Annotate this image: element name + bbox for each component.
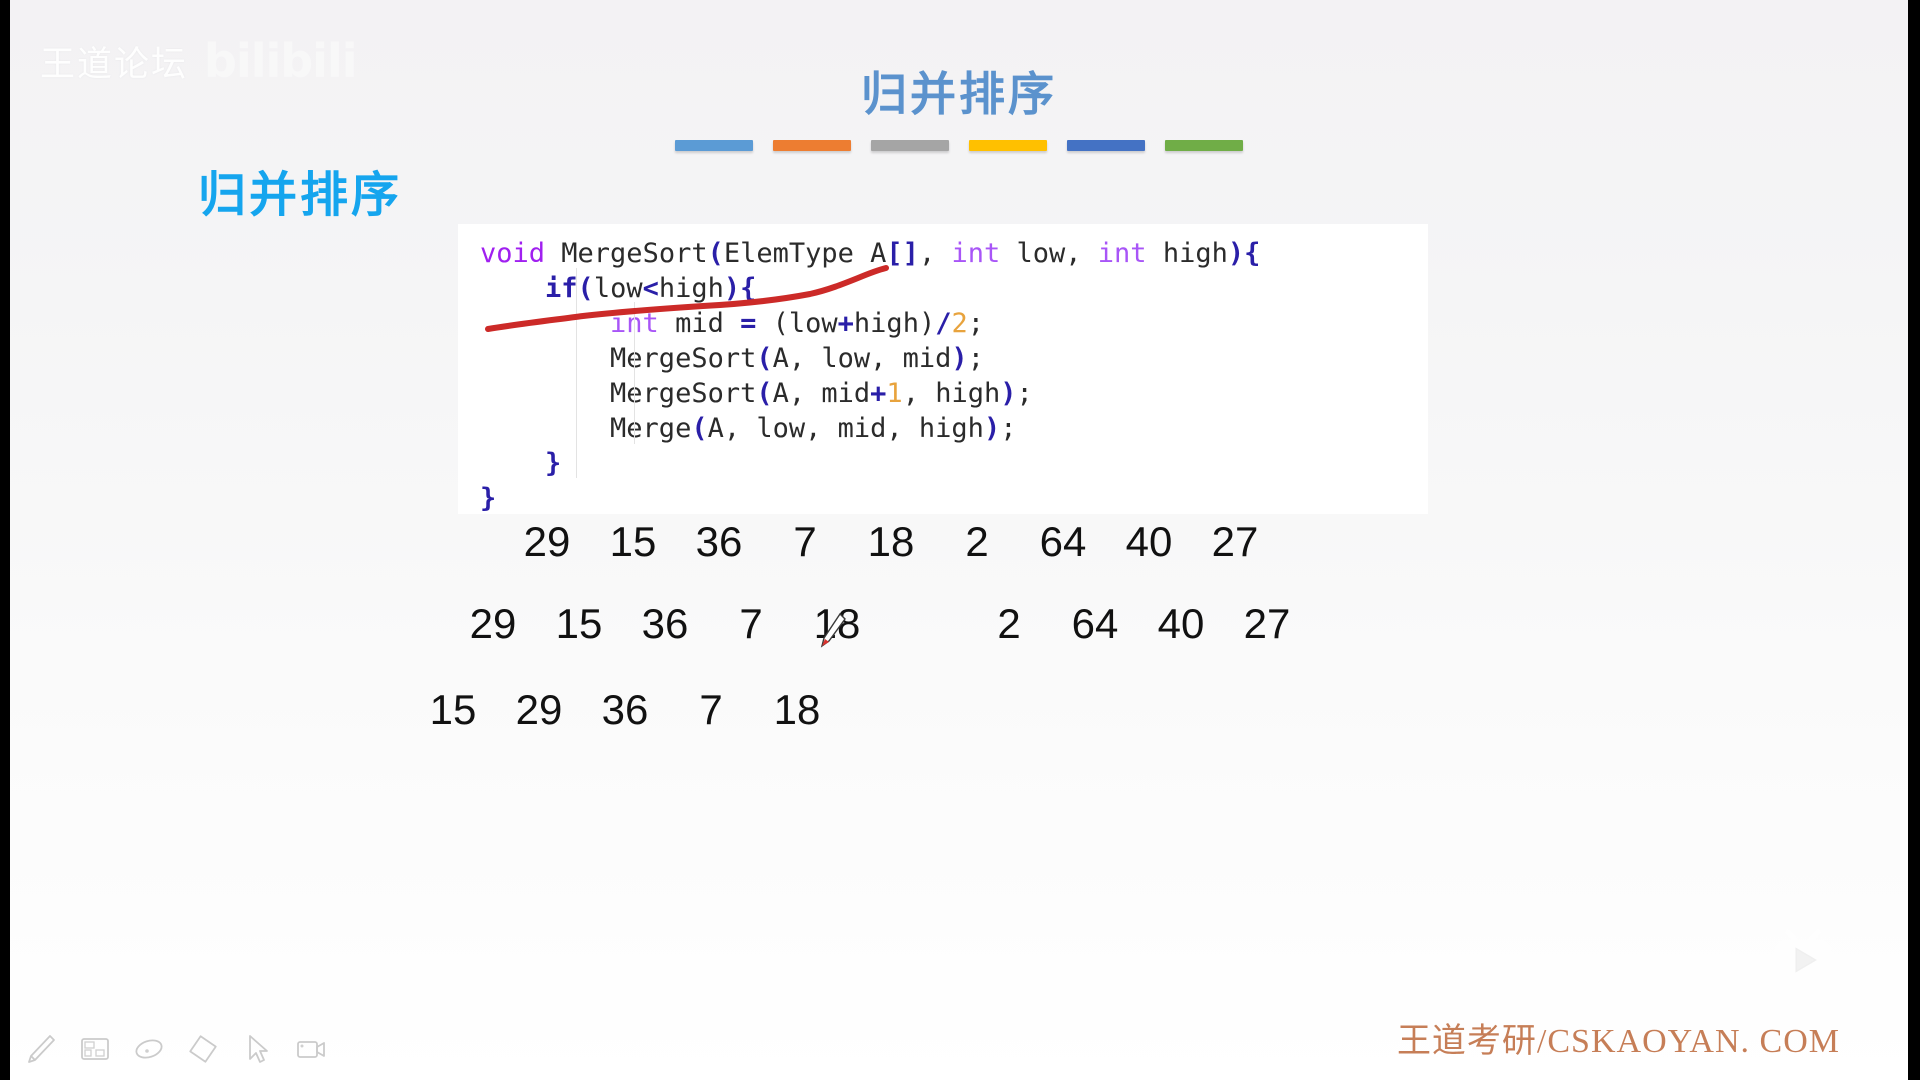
array-cell: 40	[1106, 518, 1192, 566]
title-bar-blue	[675, 140, 753, 151]
code-line-2: if(low<high){	[458, 271, 1428, 306]
board-icon	[78, 1032, 112, 1066]
array-cell: 36	[582, 686, 668, 734]
array-cell: 40	[1138, 600, 1224, 648]
array-cell: 27	[1192, 518, 1278, 566]
array-cell: 2	[934, 518, 1020, 566]
cursor-tool-button[interactable]	[240, 1032, 274, 1066]
array-cell: 36	[676, 518, 762, 566]
annotation-toolbar[interactable]	[24, 1032, 328, 1066]
title-bar-gray	[871, 140, 949, 151]
camera-tool-button[interactable]	[294, 1032, 328, 1066]
array-cell: 36	[622, 600, 708, 648]
eraser-icon	[186, 1032, 220, 1066]
code-line-1: void MergeSort(ElemType A[], int low, in…	[458, 236, 1428, 271]
pen-icon	[24, 1032, 58, 1066]
array-cell: 18	[794, 600, 880, 648]
slide-canvas: 王道论坛 bilibili 归并排序 归并排序 void MergeSort(E…	[10, 0, 1908, 1080]
bilibili-play-badge-icon	[1770, 926, 1836, 988]
array-cell: 2	[966, 600, 1052, 648]
code-line-3: int mid = (low+high)/2;	[458, 306, 1428, 341]
array-cell: 29	[496, 686, 582, 734]
slide-title: 归并排序	[10, 58, 1908, 124]
code-line-6: Merge(A, low, mid, high);	[458, 411, 1428, 446]
code-line-5: MergeSort(A, mid+1, high);	[458, 376, 1428, 411]
array-row-split: 29 15 36 7 18 2 64 40 27	[450, 600, 1310, 648]
array-cell: 27	[1224, 600, 1310, 648]
video-letterbox-frame: 王道论坛 bilibili 归并排序 归并排序 void MergeSort(E…	[0, 0, 1920, 1080]
eraser-tool-button[interactable]	[186, 1032, 220, 1066]
site-watermark: 王道考研/CSKAOYAN. COM	[1397, 1013, 1840, 1062]
array-cell: 15	[410, 686, 496, 734]
laser-icon	[132, 1032, 166, 1066]
title-bar-yellow	[969, 140, 1047, 151]
array-cell: 7	[762, 518, 848, 566]
title-bar-orange	[773, 140, 851, 151]
array-row-original: 29 15 36 7 18 2 64 40 27	[504, 518, 1278, 566]
array-cell: 18	[754, 686, 840, 734]
array-cell: 18	[848, 518, 934, 566]
title-decoration-bars	[10, 140, 1908, 151]
cursor-icon	[240, 1032, 274, 1066]
title-bar-green	[1165, 140, 1243, 151]
section-heading: 归并排序	[198, 155, 402, 225]
array-cell: 7	[708, 600, 794, 648]
code-block: void MergeSort(ElemType A[], int low, in…	[458, 224, 1428, 514]
laser-tool-button[interactable]	[132, 1032, 166, 1066]
array-cell: 15	[590, 518, 676, 566]
array-cell: 29	[450, 600, 536, 648]
array-cell: 64	[1052, 600, 1138, 648]
code-line-4: MergeSort(A, low, mid);	[458, 341, 1428, 376]
array-cell: 15	[536, 600, 622, 648]
array-cell: 64	[1020, 518, 1106, 566]
code-line-8: }	[458, 481, 1428, 516]
array-cell: 7	[668, 686, 754, 734]
pen-tool-button[interactable]	[24, 1032, 58, 1066]
board-tool-button[interactable]	[78, 1032, 112, 1066]
code-line-7: }	[458, 446, 1428, 481]
title-bar-dark-blue	[1067, 140, 1145, 151]
camera-icon	[294, 1032, 328, 1066]
array-row-partially-sorted: 15 29 36 7 18	[410, 686, 840, 734]
array-cell: 29	[504, 518, 590, 566]
